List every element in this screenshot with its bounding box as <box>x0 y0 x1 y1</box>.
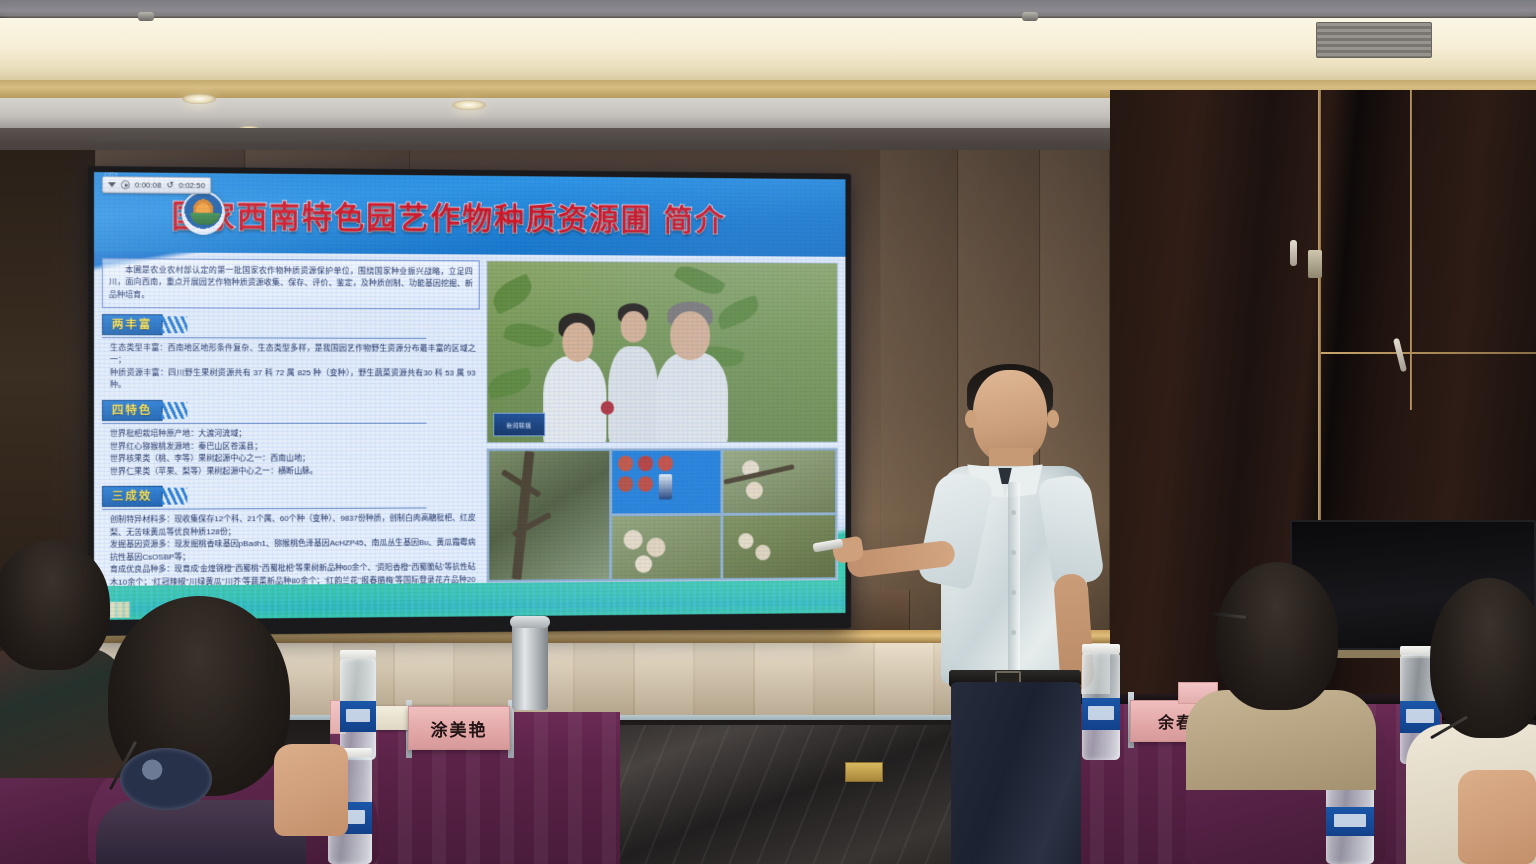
vacuum-flask <box>512 622 548 710</box>
loop-icon[interactable]: ↺ <box>166 180 173 191</box>
slide-text-column: 本圃是农业农村部认定的第一批国家农作物种质资源保护单位，围绕国家种业振兴战略，立… <box>102 258 480 586</box>
section-slash-decor <box>161 402 187 419</box>
section-line: 世界仁果类（苹果、梨等）果树起源中心之一：横断山脉。 <box>110 465 476 479</box>
audience-hand <box>1458 770 1536 864</box>
section-slash-decor <box>161 316 187 333</box>
broadcast-watermark: 新闻联播 <box>493 413 545 437</box>
door-hinge-icon <box>1308 250 1322 278</box>
hair-shape <box>0 540 110 670</box>
water-bottle <box>340 650 376 760</box>
stage-plaque <box>845 762 883 782</box>
grid-photo-4 <box>612 516 720 579</box>
slide-title-sub: 简介 <box>664 202 727 237</box>
section-slash-decor <box>161 488 187 505</box>
face-shape <box>621 311 647 342</box>
conference-room-photo: 幻灯片 0:00:08 ↺ 0:02:50 国家西南特色园艺作物种质资源圃简介 <box>0 0 1536 864</box>
section-line: 创制特异材料多：现收集保存12个科、21个属、60个种（变种）、9837份种质，… <box>110 512 476 539</box>
section-line: 世界核果类（桃、李等）果树起源中心之一：西南山地； <box>110 452 476 465</box>
bottle-body <box>340 659 376 760</box>
door-handle-icon[interactable] <box>1290 240 1297 266</box>
water-bottle <box>1082 644 1120 760</box>
name-placard-left: 涂美艳 <box>408 706 510 750</box>
shirt-button <box>1011 550 1016 555</box>
hair-shape <box>1216 562 1338 710</box>
presenter-ear <box>965 410 977 428</box>
fruit-shape <box>638 476 653 492</box>
ceiling-speaker-icon <box>138 12 154 21</box>
air-vent-icon <box>1316 22 1432 58</box>
section-tag: 两丰富 <box>102 314 162 335</box>
play-circle-icon[interactable] <box>121 180 130 189</box>
video-current-time: 0:00:08 <box>135 180 162 189</box>
instrument-shape <box>659 474 672 499</box>
bottle-label <box>340 701 376 731</box>
fruit-shape <box>647 538 666 558</box>
face-shape <box>670 311 710 360</box>
fruit-shape <box>738 533 753 549</box>
hair-shape <box>1430 578 1536 738</box>
intro-paragraph: 本圃是农业农村部认定的第一批国家农作物种质资源保护单位，围绕国家种业振兴战略，立… <box>109 264 473 302</box>
slide-photo-main: 新闻联播 <box>486 260 838 443</box>
section-header-3: 三成效 <box>102 486 187 507</box>
slide-title-main: 国家西南特色园艺作物种质资源圃 <box>172 198 653 236</box>
downlight-icon <box>452 100 486 110</box>
person-shape <box>656 352 728 443</box>
section-body-2: 世界枇杷栽培种原产地：大渡河流域； 世界红心猕猴桃发源地：秦巴山区苍溪县； 世界… <box>102 425 480 480</box>
fruit-shape <box>658 456 673 472</box>
intro-paragraph-box: 本圃是农业农村部认定的第一批国家农作物种质资源保护单位，围绕国家种业振兴战略，立… <box>102 258 480 309</box>
audience-head-left <box>0 540 110 670</box>
slide-corner-label: 幻灯片 <box>104 172 119 178</box>
slide-photo-grid <box>486 447 838 582</box>
audience-head-right <box>1216 562 1338 710</box>
presenter <box>905 370 1120 864</box>
grid-photo-1 <box>489 451 609 580</box>
video-control-bar[interactable]: 0:00:08 ↺ 0:02:50 <box>102 176 211 194</box>
door-frame-edge <box>1321 352 1536 354</box>
person-shape <box>543 356 606 443</box>
page-title: 国家西南特色园艺作物种质资源圃简介 <box>172 190 727 239</box>
fruit-shape <box>618 456 633 472</box>
fruit-shape <box>755 545 770 561</box>
section-header-2: 四特色 <box>102 400 187 421</box>
branch-shape <box>511 451 534 580</box>
shirt-button <box>1011 590 1016 595</box>
section-tag: 三成效 <box>102 486 162 507</box>
bottle-label <box>1326 807 1374 837</box>
fruit-shape <box>600 401 613 415</box>
downlight-icon <box>182 94 216 104</box>
shirt-button <box>1011 510 1016 515</box>
audience-head-far-right <box>1430 578 1536 738</box>
audience-hand <box>274 744 348 836</box>
section-line: 种质资源丰富：四川野生果树资源共有 37 科 72 属 825 种（变种），野生… <box>110 367 476 392</box>
face-shape <box>562 323 593 362</box>
grid-photo-2 <box>612 451 720 514</box>
section-line: 生态类型丰富：西南地区地形条件复杂、生态类型多样，是我国园艺作物野生资源分布最丰… <box>110 342 476 368</box>
slide-body: 本圃是农业农村部认定的第一批国家农作物种质资源保护单位，围绕国家种业振兴战略，立… <box>94 252 845 586</box>
fruit-shape <box>746 482 763 500</box>
section-line: 世界枇杷栽培种原产地：大渡河流域； <box>110 428 476 441</box>
section-line: 世界红心猕猴桃发源地：秦巴山区苍溪县； <box>110 440 476 453</box>
fruit-shape <box>618 476 633 492</box>
projection-screen[interactable]: 幻灯片 0:00:08 ↺ 0:02:50 国家西南特色园艺作物种质资源圃简介 <box>88 166 851 636</box>
section-header-1: 两丰富 <box>102 314 187 335</box>
fruit-shape <box>638 456 653 472</box>
organization-logo-icon <box>181 191 224 235</box>
chevron-down-icon[interactable] <box>108 182 116 187</box>
section-body-1: 生态类型丰富：西南地区地形条件复杂、生态类型多样，是我国园艺作物野生资源分布最丰… <box>102 339 480 394</box>
section-line: 发掘基因资源多：现发掘桃香味基因pBadh1、猕猴桃色泽基因AcHZP45、南瓜… <box>110 537 476 564</box>
hair-scrunchie <box>120 748 212 810</box>
bottle-body <box>1082 653 1120 760</box>
slide-surface: 幻灯片 0:00:08 ↺ 0:02:50 国家西南特色园艺作物种质资源圃简介 <box>94 172 845 620</box>
bottle-label <box>1082 698 1120 730</box>
door-frame-edge <box>1410 90 1412 410</box>
presenter-pants <box>951 682 1081 864</box>
section-tag: 四特色 <box>102 400 162 421</box>
door-handle-icon[interactable] <box>1393 338 1407 372</box>
person-shape <box>608 346 658 443</box>
presenter-ear <box>1047 410 1059 428</box>
fruit-shape <box>624 530 643 550</box>
video-total-time: 0:02:50 <box>179 181 205 190</box>
ceiling-speaker-icon <box>1022 12 1038 21</box>
fruit-shape <box>635 555 652 573</box>
shirt-button <box>1011 630 1016 635</box>
ceiling-light-cove <box>0 18 1536 80</box>
grid-photo-3 <box>723 450 835 513</box>
slide-photo-column: 新闻联播 <box>486 260 838 582</box>
